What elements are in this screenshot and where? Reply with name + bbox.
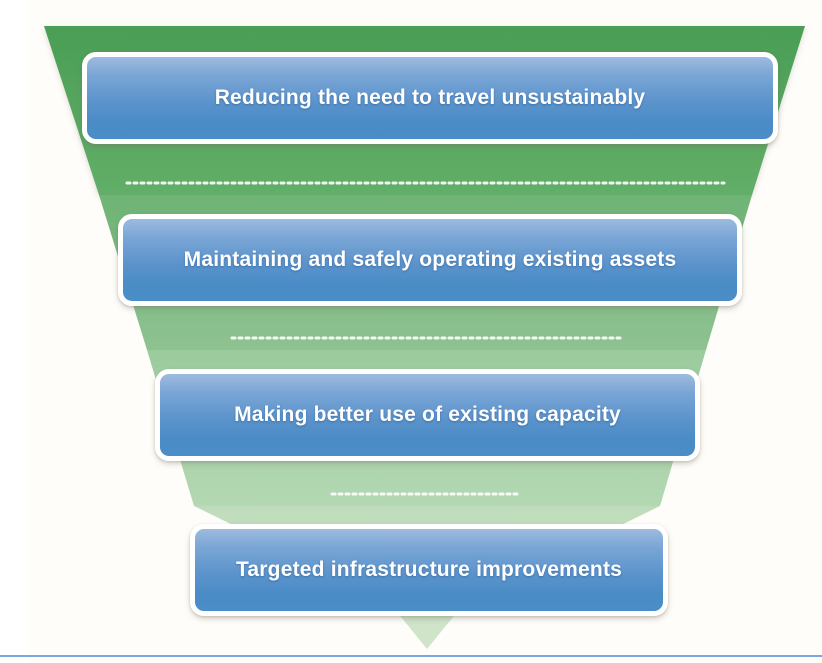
page-bottom-divider xyxy=(0,655,822,657)
funnel-stage-bar-4[interactable]: Targeted infrastructure improvements xyxy=(190,524,668,616)
funnel-stage-label-1: Reducing the need to travel unsustainabl… xyxy=(215,86,646,110)
funnel-diagram: Reducing the need to travel unsustainabl… xyxy=(0,0,822,663)
funnel-stage-bar-2[interactable]: Maintaining and safely operating existin… xyxy=(118,214,742,306)
funnel-stage-label-2: Maintaining and safely operating existin… xyxy=(184,248,677,272)
funnel-stage-bar-3[interactable]: Making better use of existing capacity xyxy=(155,369,700,461)
funnel-stage-label-3: Making better use of existing capacity xyxy=(234,403,621,427)
funnel-stage-label-4: Targeted infrastructure improvements xyxy=(236,558,622,582)
funnel-stage-bar-1[interactable]: Reducing the need to travel unsustainabl… xyxy=(82,52,778,144)
